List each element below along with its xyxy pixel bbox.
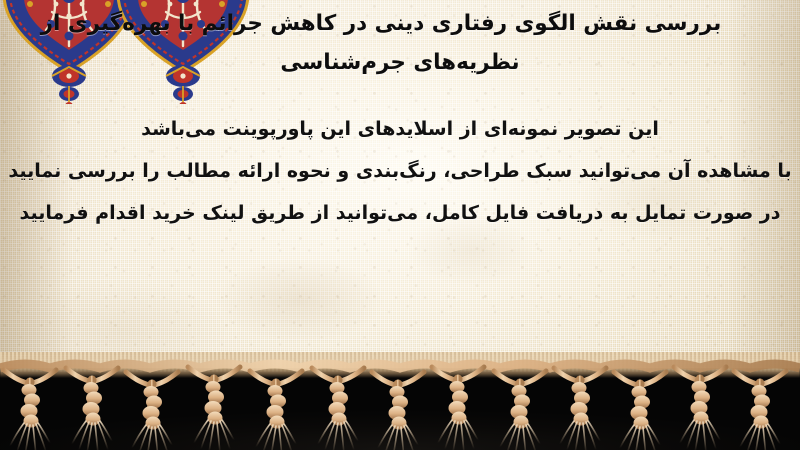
slide-body-line-1: این تصویر نمونه‌ای از اسلایدهای این پاور… (0, 108, 800, 150)
slide-title: بررسی نقش الگوی رفتاری دینی در کاهش جرائ… (0, 4, 800, 82)
slide-body-line-3: در صورت تمایل به دریافت فایل کامل، می‌تو… (0, 192, 800, 234)
slide-body-line-2: با مشاهده آن می‌توانید سبک طراحی، رنگ‌بن… (0, 150, 800, 192)
slide-title-line-2: نظریه‌های جرم‌شناسی (0, 43, 800, 82)
slide-body: این تصویر نمونه‌ای از اسلایدهای این پاور… (0, 108, 800, 234)
slide-text-layer: بررسی نقش الگوی رفتاری دینی در کاهش جرائ… (0, 0, 800, 376)
slide-canvas: بررسی نقش الگوی رفتاری دینی در کاهش جرائ… (0, 0, 800, 450)
carpet-fringe-tassels (0, 352, 800, 450)
slide-title-line-1: بررسی نقش الگوی رفتاری دینی در کاهش جرائ… (0, 4, 800, 43)
